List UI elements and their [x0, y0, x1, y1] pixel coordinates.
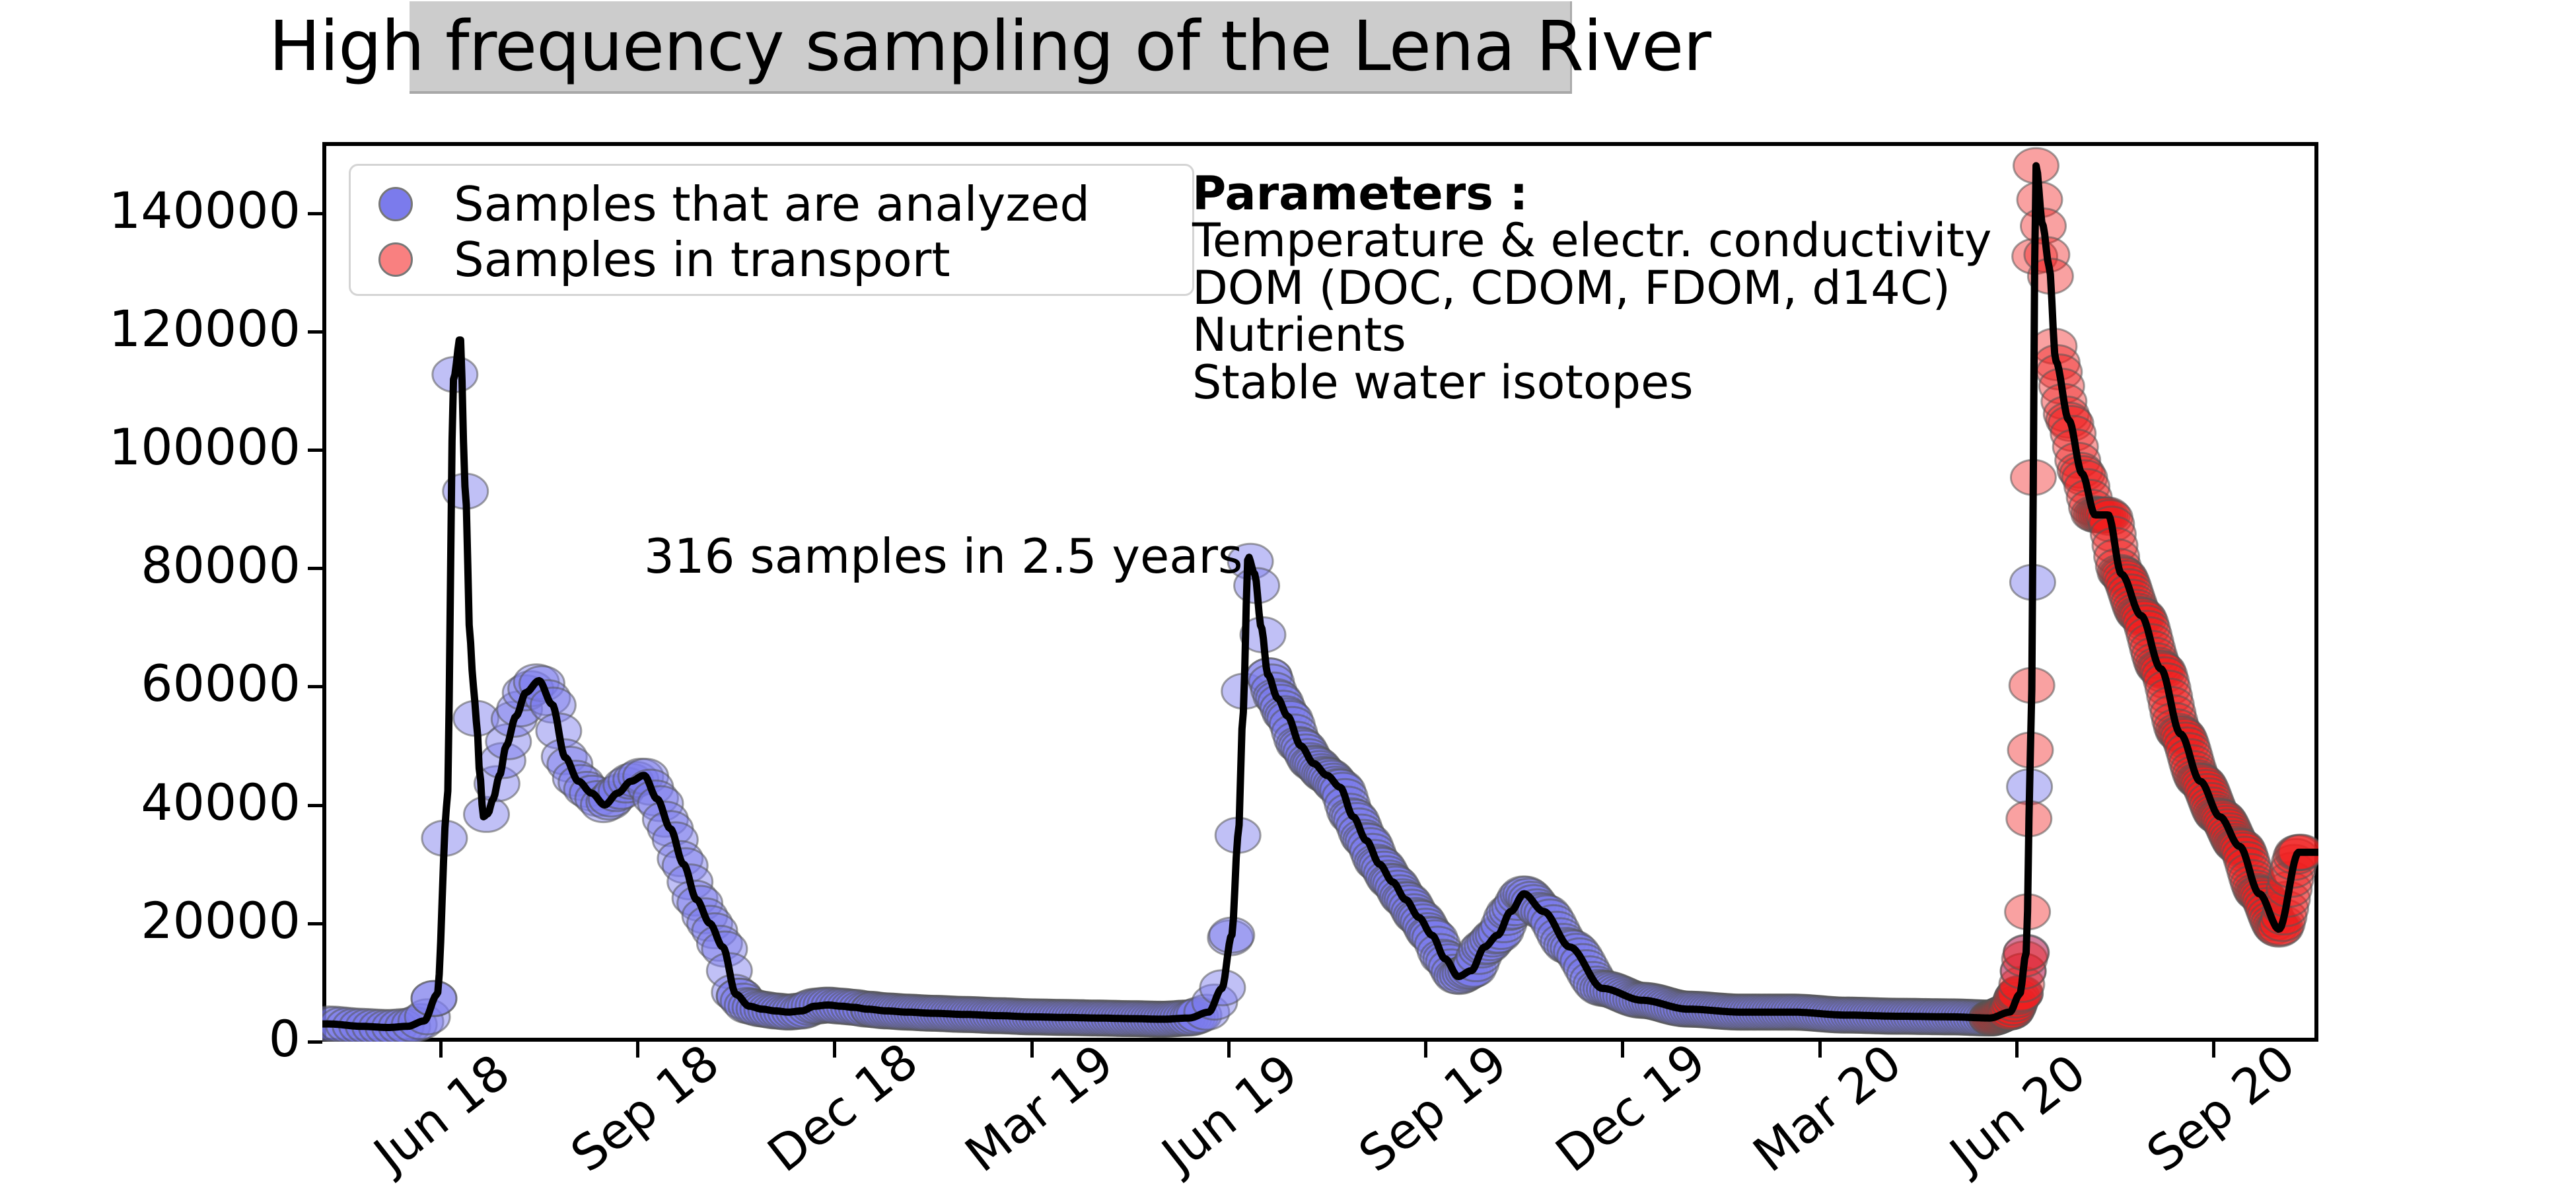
y-tick-mark: [308, 212, 322, 215]
x-tick-label: Mar 20: [1742, 1073, 1861, 1183]
x-tick-mark: [1621, 1042, 1624, 1058]
y-tick-label: 60000: [141, 659, 301, 709]
parameter-line-2: DOM (DOC, CDOM, FDOM, d14C): [1192, 265, 2117, 312]
x-tick-mark: [1424, 1042, 1427, 1058]
y-tick-mark: [308, 449, 322, 452]
y-tick-mark: [308, 567, 322, 570]
x-tick-mark: [2212, 1042, 2215, 1058]
x-tick-mark: [2015, 1042, 2019, 1058]
legend-item-analyzed: Samples that are analyzed: [378, 176, 1192, 232]
y-tick-label: 100000: [109, 422, 301, 472]
x-tick-label: Mar 19: [955, 1073, 1073, 1183]
x-tick-label: Sep 20: [2137, 1073, 2255, 1183]
x-tick-mark: [1227, 1042, 1231, 1058]
y-axis-ticks: 020000400006000080000100000120000140000: [0, 0, 301, 1189]
parameter-line-1: Temperature & electr. conductivity: [1192, 217, 2117, 264]
parameter-line-4: Stable water isotopes: [1192, 359, 2117, 406]
x-tick-mark: [439, 1042, 443, 1058]
y-tick-label: 0: [269, 1014, 301, 1064]
parameter-line-3: Nutrients: [1192, 312, 2117, 359]
y-tick-label: 20000: [141, 896, 301, 946]
y-tick-label: 120000: [109, 304, 301, 354]
x-tick-label: Jun 18: [364, 1073, 482, 1183]
chart-legend: Samples that are analyzed Samples in tra…: [349, 164, 1194, 296]
y-tick-label: 140000: [109, 186, 301, 236]
x-tick-mark: [833, 1042, 836, 1058]
x-tick-label: Dec 18: [758, 1073, 876, 1183]
x-tick-mark: [636, 1042, 639, 1058]
parameters-block: Parameters : Temperature & electr. condu…: [1192, 170, 2117, 406]
legend-marker-red-icon: [378, 242, 413, 277]
y-tick-label: 80000: [141, 540, 301, 591]
x-tick-mark: [1030, 1042, 1034, 1058]
sample-count-annotation: 316 samples in 2.5 years: [644, 528, 1243, 584]
x-tick-label: Jun 19: [1152, 1073, 1270, 1183]
y-tick-label: 40000: [141, 777, 301, 828]
y-tick-mark: [308, 1040, 322, 1044]
y-tick-mark: [308, 685, 322, 688]
parameters-heading: Parameters :: [1192, 170, 2117, 217]
y-tick-mark: [308, 330, 322, 334]
discharge-chart: Discharge (m3 sec−1) 0200004000060000800…: [0, 0, 2576, 1189]
y-tick-mark: [308, 922, 322, 925]
legend-marker-blue-icon: [378, 187, 413, 221]
legend-label-transport: Samples in transport: [454, 232, 950, 287]
legend-label-analyzed: Samples that are analyzed: [454, 176, 1090, 232]
x-tick-mark: [1818, 1042, 1822, 1058]
x-tick-label: Jun 20: [1940, 1073, 2058, 1183]
x-tick-label: Sep 19: [1349, 1073, 1467, 1183]
x-tick-label: Sep 18: [561, 1073, 679, 1183]
x-tick-label: Dec 19: [1546, 1073, 1664, 1183]
legend-item-transport: Samples in transport: [378, 232, 1192, 287]
y-tick-mark: [308, 804, 322, 807]
